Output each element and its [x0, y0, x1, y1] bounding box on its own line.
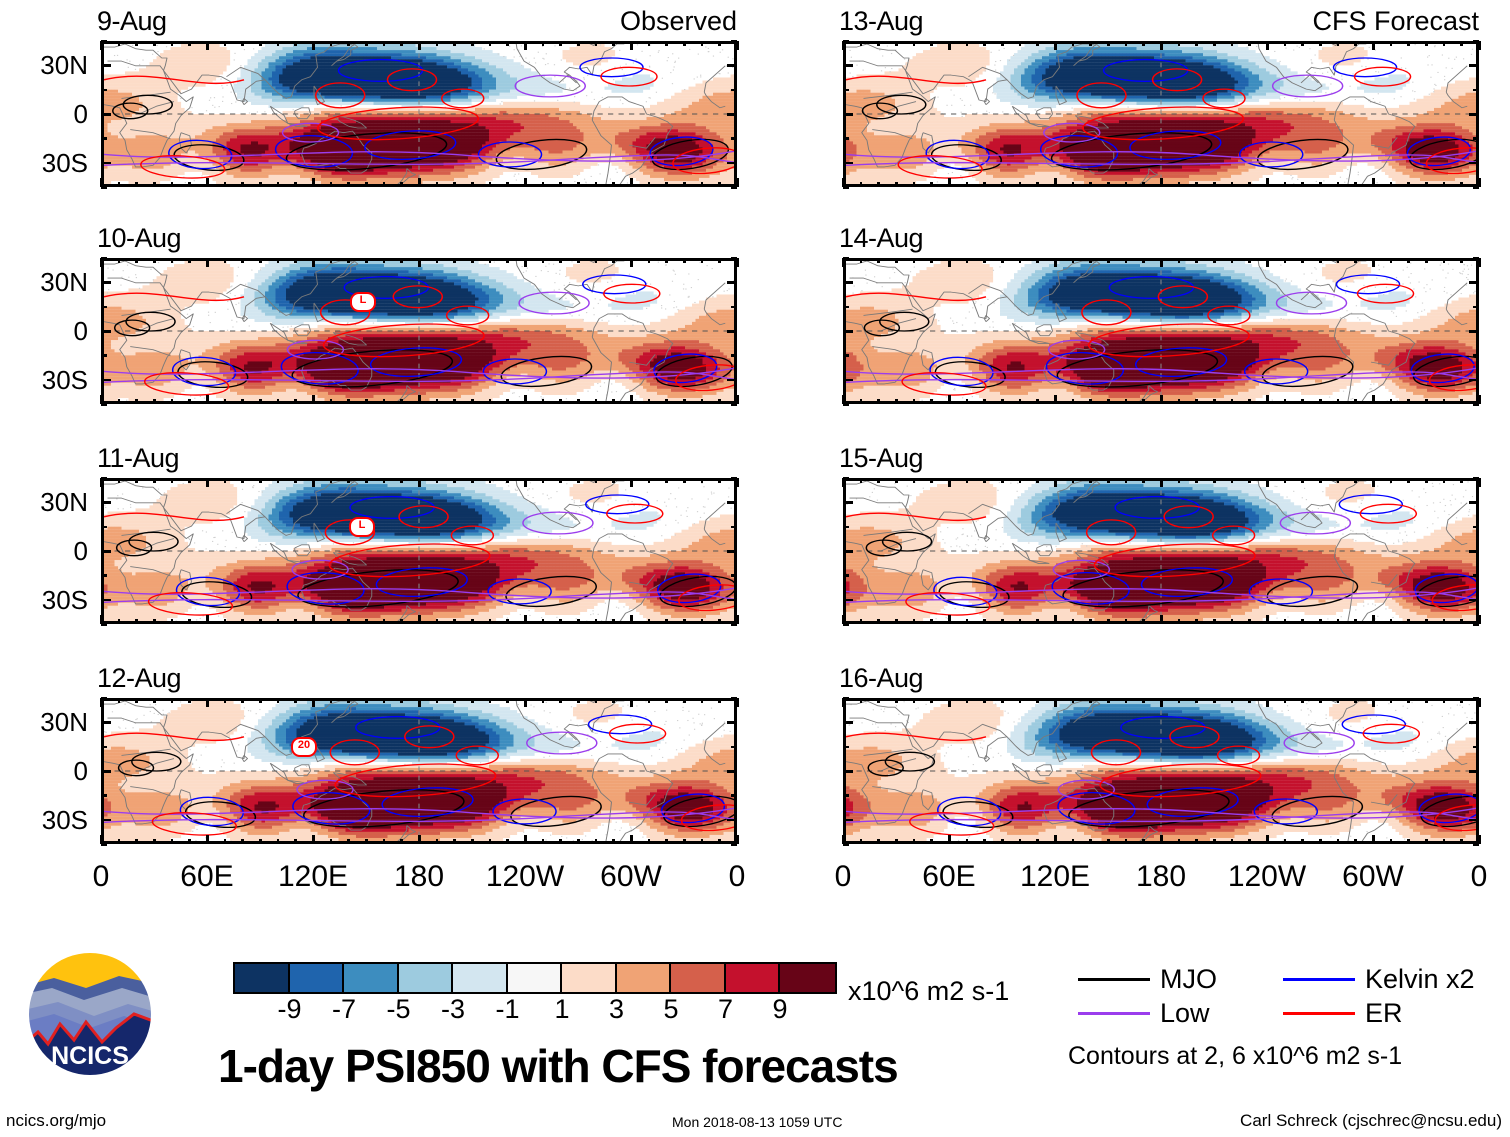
legend-row: MJO Kelvin x2	[1078, 962, 1498, 996]
y-axis-label-30S: 30S	[0, 150, 88, 176]
x-axis-label-0: 0	[677, 862, 797, 892]
map-panel-13-aug[interactable]	[843, 41, 1479, 187]
panel-title-15-aug: 15-Aug	[839, 445, 923, 472]
legend-line-er	[1283, 1012, 1355, 1015]
legend-item-low: Low	[1078, 1000, 1283, 1027]
colorbar-tick--1: -1	[495, 996, 519, 1023]
colorbar-tick-9: 9	[772, 996, 787, 1023]
x-axis-label-60W: 60W	[1313, 862, 1433, 892]
colorbar-swatch-8	[671, 964, 726, 992]
storm-marker-l-10aug: L	[350, 292, 376, 312]
legend-label-er: ER	[1365, 1000, 1403, 1027]
colorbar-tick-5: 5	[663, 996, 678, 1023]
colorbar-swatch-1	[290, 964, 345, 992]
x-axis-label-120E: 120E	[253, 862, 373, 892]
y-axis-label-30N: 30N	[0, 489, 88, 515]
y-axis-label-30S: 30S	[0, 587, 88, 613]
colorbar: -9-7-5-3-113579	[233, 962, 837, 1026]
map-panel-15-aug[interactable]	[843, 478, 1479, 624]
y-axis-label-30N: 30N	[0, 269, 88, 295]
y-axis-label-30N: 30N	[0, 709, 88, 735]
colorbar-ticklabels: -9-7-5-3-113579	[233, 994, 833, 1026]
panel-title-12-aug: 12-Aug	[97, 665, 181, 692]
x-axis-label-0: 0	[783, 862, 903, 892]
legend-label-kelvin: Kelvin x2	[1365, 966, 1475, 993]
legend-item-er: ER	[1283, 1000, 1488, 1027]
x-axis-label-0: 0	[1419, 862, 1510, 892]
legend-item-kelvin: Kelvin x2	[1283, 966, 1488, 993]
x-axis-label-60E: 60E	[147, 862, 267, 892]
colorbar-swatch-7	[617, 964, 672, 992]
colorbar-swatch-4	[453, 964, 508, 992]
contour-level-note: Contours at 2, 6 x10^6 m2 s-1	[1068, 1044, 1402, 1069]
legend-line-kelvin	[1283, 978, 1355, 981]
x-axis-label-120W: 120W	[1207, 862, 1327, 892]
legend-item-mjo: MJO	[1078, 966, 1283, 993]
colorbar-tick-7: 7	[718, 996, 733, 1023]
x-axis-label-120W: 120W	[465, 862, 585, 892]
panel-title-9-aug: 9-Aug	[97, 8, 167, 35]
colorbar-swatch-2	[344, 964, 399, 992]
storm-marker-20-12aug: 20	[291, 737, 317, 757]
y-axis-label-0: 0	[0, 101, 88, 127]
colorbar-swatch-9	[726, 964, 781, 992]
legend-line-mjo	[1078, 978, 1150, 981]
colorbar-swatches	[233, 962, 837, 994]
y-axis-label-0: 0	[0, 538, 88, 564]
legend-line-low	[1078, 1012, 1150, 1015]
x-axis-label-60W: 60W	[571, 862, 691, 892]
x-axis-label-60E: 60E	[889, 862, 1009, 892]
panel-title-16-aug: 16-Aug	[839, 665, 923, 692]
x-axis-label-120E: 120E	[995, 862, 1115, 892]
footer-timestamp: Mon 2018-08-13 1059 UTC	[672, 1114, 842, 1131]
y-axis-label-0: 0	[0, 318, 88, 344]
x-axis-label-0: 0	[41, 862, 161, 892]
map-panel-9-aug[interactable]	[101, 41, 737, 187]
map-panel-10-aug[interactable]	[101, 258, 737, 404]
colorbar-units-label: x10^6 m2 s-1	[848, 978, 1009, 1005]
ncics-logo: NCICS	[24, 948, 156, 1080]
colorbar-swatch-3	[399, 964, 454, 992]
footer-author: Carl Schreck (cjschrec@ncsu.edu)	[1240, 1112, 1502, 1129]
y-axis-label-30N: 30N	[0, 52, 88, 78]
map-panel-11-aug[interactable]	[101, 478, 737, 624]
map-panel-16-aug[interactable]	[843, 698, 1479, 844]
panel-title-14-aug: 14-Aug	[839, 225, 923, 252]
legend-label-mjo: MJO	[1160, 966, 1217, 993]
y-axis-label-30S: 30S	[0, 807, 88, 833]
legend-row: Low ER	[1078, 996, 1498, 1030]
colorbar-tick-3: 3	[609, 996, 624, 1023]
colorbar-swatch-0	[235, 964, 290, 992]
colorbar-tick-1: 1	[554, 996, 569, 1023]
y-axis-label-30S: 30S	[0, 367, 88, 393]
colorbar-swatch-10	[780, 964, 835, 992]
column-header-left: Observed	[477, 8, 737, 35]
colorbar-tick--7: -7	[332, 996, 356, 1023]
panel-title-11-aug: 11-Aug	[97, 445, 179, 472]
x-axis-label-180: 180	[359, 862, 479, 892]
map-panel-14-aug[interactable]	[843, 258, 1479, 404]
y-axis-label-0: 0	[0, 758, 88, 784]
colorbar-tick--9: -9	[277, 996, 301, 1023]
panel-title-10-aug: 10-Aug	[97, 225, 181, 252]
panel-title-13-aug: 13-Aug	[839, 8, 923, 35]
colorbar-tick--3: -3	[441, 996, 465, 1023]
storm-marker-l-11aug: L	[349, 517, 375, 537]
colorbar-swatch-5	[508, 964, 563, 992]
figure-title: 1-day PSI850 with CFS forecasts	[218, 1043, 898, 1089]
map-panel-12-aug[interactable]	[101, 698, 737, 844]
colorbar-swatch-6	[562, 964, 617, 992]
logo-text: NCICS	[51, 1042, 129, 1070]
column-header-right: CFS Forecast	[1219, 8, 1479, 35]
footer-left[interactable]: ncics.org/mjo	[6, 1112, 106, 1129]
contour-legend: MJO Kelvin x2 Low ER	[1078, 962, 1498, 1030]
legend-label-low: Low	[1160, 1000, 1210, 1027]
colorbar-tick--5: -5	[386, 996, 410, 1023]
x-axis-label-180: 180	[1101, 862, 1221, 892]
